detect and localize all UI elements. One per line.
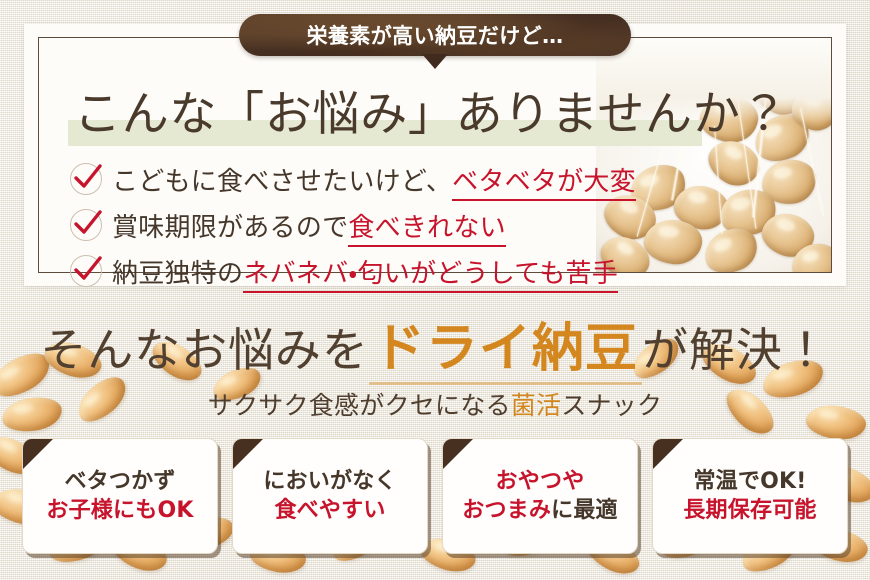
feature-card-line2-brown: に最適 <box>551 498 618 523</box>
list-item: 納豆独特のネバネバ・匂いがどうしても苦手 <box>70 248 690 294</box>
feature-card-line1: おやつや <box>496 467 585 496</box>
page-title: こんな「お悩み」ありませんか？ <box>68 82 708 148</box>
product-name: ドライ納豆 <box>369 319 642 385</box>
feature-card-line2: お子様にもOK <box>46 496 193 525</box>
headline-text: こんな「お悩み」ありませんか？ <box>74 82 788 148</box>
feature-card-line1: ベタつかず <box>64 467 175 496</box>
solution-tagline: そんなお悩みをドライ納豆が解決！ <box>0 306 870 381</box>
feature-card[interactable]: ベタつかず お子様にもOK <box>22 438 218 554</box>
list-item-text: 賞味期限があるので食べきれない <box>112 207 506 244</box>
feature-card-line2: おつまみに最適 <box>462 496 618 525</box>
list-item-lead: 納豆独特の <box>112 259 243 289</box>
feature-card-line2: 長期保存可能 <box>683 496 816 525</box>
feature-card-line2-red: おつまみ <box>462 498 551 523</box>
ribbon-badge: 栄養素が高い納豆だけど… <box>239 14 631 56</box>
feature-card-line1: 常温でOK! <box>693 467 806 496</box>
problem-list: こどもに食べさせたいけど、ベタベタが大変 賞味期限があるので食べきれない 納豆独… <box>70 156 690 294</box>
ribbon-badge-label: 栄養素が高い納豆だけど… <box>280 20 589 50</box>
corner-fold-icon <box>443 439 473 469</box>
list-item-text: 納豆独特のネバネバ・匂いがどうしても苦手 <box>112 253 618 290</box>
check-circle-icon <box>70 163 102 195</box>
ribbon-badge-pointer <box>422 54 448 69</box>
feature-card[interactable]: においがなく 食べやすい <box>232 438 428 554</box>
feature-card-line2: 食べやすい <box>274 496 385 525</box>
list-item-emphasis: 食べきれない <box>348 213 506 247</box>
corner-fold-icon <box>23 439 53 469</box>
subtitle-after: スナック <box>561 391 662 420</box>
check-circle-icon <box>70 255 102 287</box>
list-item-lead: こどもに食べさせたいけど、 <box>112 167 452 197</box>
feature-card-list: ベタつかず お子様にもOK においがなく 食べやすい おやつや おつまみに最適 … <box>22 438 848 554</box>
landing-page-hero: こんな「お悩み」ありませんか？ こどもに食べさせたいけど、ベタベタが大変 賞味 <box>0 0 870 580</box>
solution-subtitle: サクサク食感がクセになる菌活スナック <box>0 386 870 422</box>
corner-fold-icon <box>233 439 263 469</box>
list-item-lead: 賞味期限があるので <box>112 213 348 243</box>
check-circle-icon <box>70 209 102 241</box>
list-item-text: こどもに食べさせたいけど、ベタベタが大変 <box>112 161 636 198</box>
list-item-emphasis: ネバネバ・匂いがどうしても苦手 <box>243 259 618 293</box>
feature-card[interactable]: おやつや おつまみに最適 <box>442 438 638 554</box>
tagline-after: が解決！ <box>642 325 830 376</box>
subtitle-highlight: 菌活 <box>511 391 562 420</box>
feature-card[interactable]: 常温でOK! 長期保存可能 <box>652 438 848 554</box>
list-item-emphasis: ベタベタが大変 <box>452 167 636 201</box>
list-item: こどもに食べさせたいけど、ベタベタが大変 <box>70 156 690 202</box>
feature-card-line1: においがなく <box>263 467 396 496</box>
list-item: 賞味期限があるので食べきれない <box>70 202 690 248</box>
subtitle-before: サクサク食感がクセになる <box>208 391 511 420</box>
feature-card-line1-red: おやつや <box>496 469 585 494</box>
corner-fold-icon <box>653 439 683 469</box>
tagline-before: そんなお悩みを <box>40 325 368 376</box>
